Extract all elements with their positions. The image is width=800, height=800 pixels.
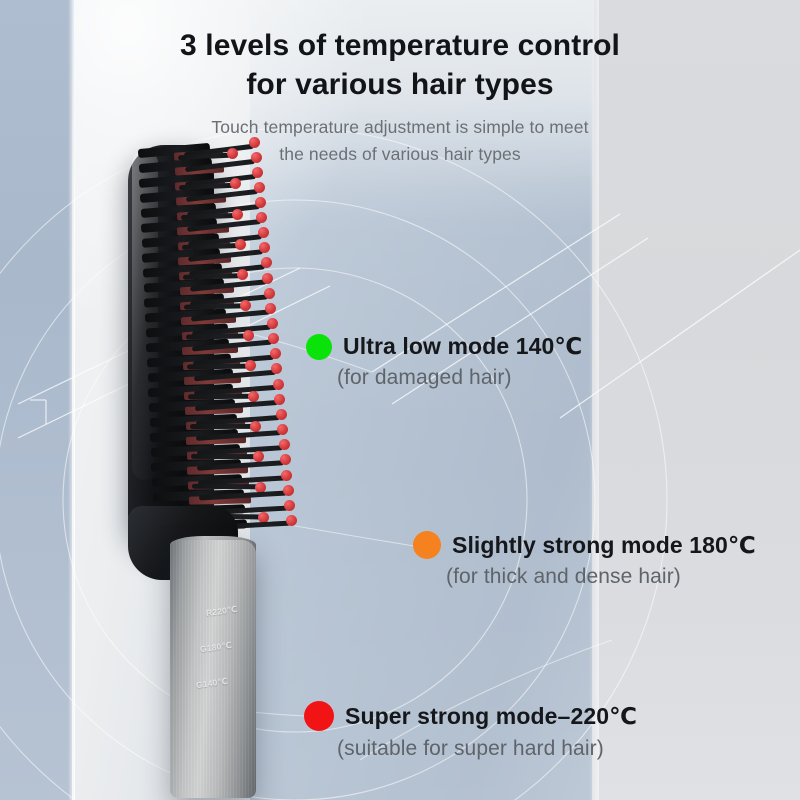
bristle-ball-tip: [276, 409, 287, 420]
bristle-ball-tip: [235, 239, 246, 250]
callout-super-strong-mode: Super strong mode–220℃ (suitable for sup…: [304, 701, 637, 761]
callout-subtitle-slightly-strong: (for thick and dense hair): [446, 565, 756, 589]
bristle-ball-tip: [273, 379, 284, 390]
bristle-ball-tip: [281, 470, 292, 481]
callout-slightly-strong-mode: Slightly strong mode 180℃ (for thick and…: [413, 531, 756, 589]
brush-bristle-pin: [188, 394, 251, 399]
bristle-ball-tip: [256, 212, 267, 223]
brush-bristle-pin: [192, 484, 259, 490]
bristle-ball-tip: [286, 515, 297, 526]
brush-bristle-pin: [191, 454, 257, 459]
green-mode-dot: [306, 334, 332, 360]
bristle-ball-tip: [261, 257, 272, 268]
bristle-ball-tip: [270, 348, 281, 359]
bristle-ball-tip: [254, 182, 265, 193]
page-title-line1: 3 levels of temperature control: [0, 26, 800, 65]
page-subtitle-line2: the needs of various hair types: [0, 140, 800, 168]
bristle-ball-tip: [262, 273, 273, 284]
bristle-ball-tip: [237, 269, 248, 280]
bristle-ball-tip: [230, 178, 241, 189]
bristle-ball-tip: [255, 197, 266, 208]
bristle-ball-tip: [283, 485, 294, 496]
callout-title-ultra-low: Ultra low mode 140℃: [343, 333, 582, 360]
orange-mode-dot: [413, 531, 441, 559]
bristle-ball-tip: [264, 288, 275, 299]
bristle-ball-tip: [274, 394, 285, 405]
bristle-ball-tip: [277, 424, 288, 435]
callout-title-super-strong: Super strong mode–220℃: [345, 703, 637, 730]
page-subtitle-line1: Touch temperature adjustment is simple t…: [0, 113, 800, 141]
callout-subtitle-super-strong: (suitable for super hard hair): [337, 737, 637, 761]
bristle-ball-tip: [240, 300, 251, 311]
bristle-ball-tip: [250, 421, 261, 432]
bristle-ball-tip: [284, 500, 295, 511]
callout-title-slightly-strong: Slightly strong mode 180℃: [452, 532, 756, 559]
bristle-ball-tip: [252, 167, 263, 178]
bristle-ball-tip: [245, 360, 256, 371]
callout-ultra-low-mode: Ultra low mode 140℃ (for damaged hair): [306, 333, 582, 390]
page-title-line2: for various hair types: [0, 65, 800, 104]
bristle-ball-tip: [248, 391, 259, 402]
bristle-ball-tip: [232, 209, 243, 220]
callout-subtitle-ultra-low: (for damaged hair): [337, 366, 582, 390]
product-feature-image: R220℃ G180℃ G140℃ 3 levels of temperatur…: [0, 0, 800, 800]
bristle-ball-tip: [259, 242, 270, 253]
bristle-ball-tip: [268, 333, 279, 344]
bristle-ball-tip: [258, 227, 269, 238]
bristle-ball-tip: [243, 330, 254, 341]
red-mode-dot: [304, 701, 334, 731]
bristle-ball-tip: [279, 439, 290, 450]
bristle-ball-tip: [280, 454, 291, 465]
handle-brushed-texture: [170, 540, 256, 798]
bristle-ball-tip: [271, 363, 282, 374]
brush-bristle-pin: [190, 424, 255, 429]
bristle-ball-tip: [265, 303, 276, 314]
bristle-ball-tip: [267, 318, 278, 329]
